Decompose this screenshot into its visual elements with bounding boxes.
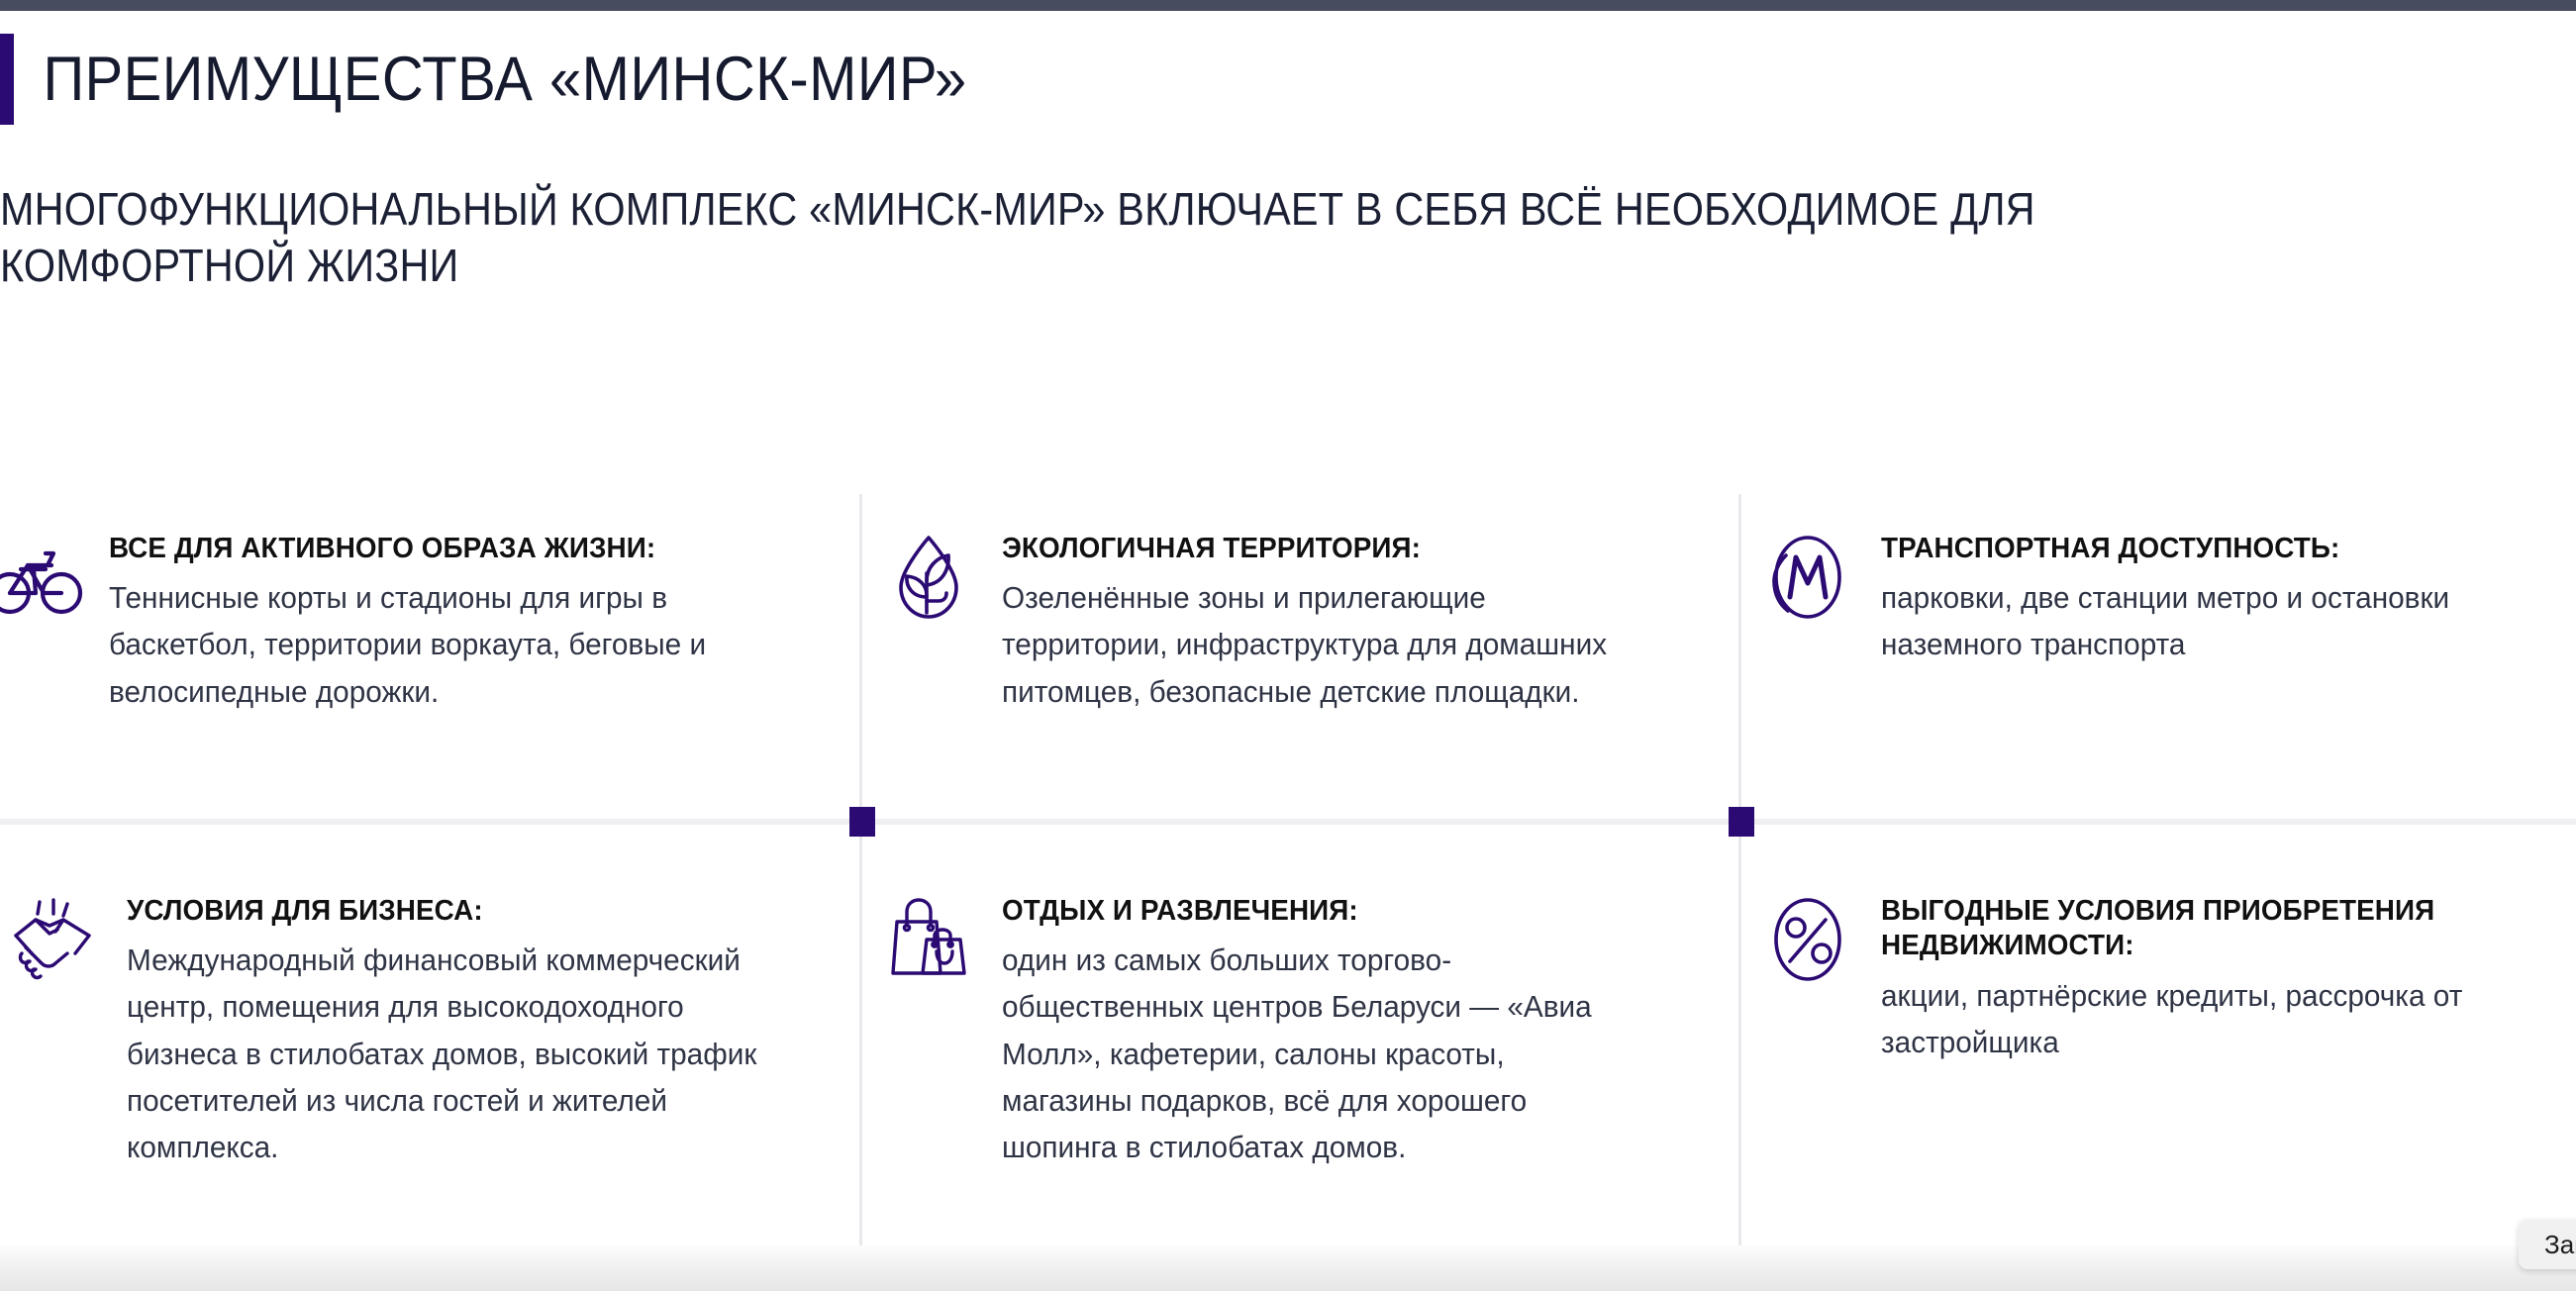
eco-leaf-drop-icon: [881, 530, 976, 625]
feature-card-title: УСЛОВИЯ ДЛЯ БИЗНЕСА:: [127, 894, 765, 929]
feature-card-text: Международный финансовый коммерческий це…: [127, 937, 765, 1170]
vertical-divider-1: [859, 494, 862, 1262]
feature-card-title: ЭКОЛОГИЧНАЯ ТЕРРИТОРИЯ:: [1002, 532, 1636, 566]
handshake-icon: [6, 892, 101, 987]
horizontal-divider: [0, 819, 2576, 825]
card-body: ВЫГОДНЫЕ УСЛОВИЯ ПРИОБРЕТЕНИЯ НЕДВИЖИМОС…: [1881, 892, 2552, 1065]
page-title: ПРЕИМУЩЕСТВА «МИНСК-МИР»: [14, 49, 967, 111]
feature-card-transport[interactable]: ТРАНСПОРТНАЯ ДОСТУПНОСТЬ: парковки, две …: [1760, 530, 2542, 668]
page-subtitle: МНОГОФУНКЦИОНАЛЬНЫЙ КОМПЛЕКС «МИНСК-МИР»…: [0, 181, 2319, 294]
feature-card-title: ВЫГОДНЫЕ УСЛОВИЯ ПРИОБРЕТЕНИЯ НЕДВИЖИМОС…: [1881, 894, 2526, 964]
card-body: ОТДЫХ И РАЗВЛЕЧЕНИЯ: один из самых больш…: [1002, 892, 1663, 1170]
feature-card-text: один из самых больших торгово-общественн…: [1002, 937, 1636, 1170]
card-body: УСЛОВИЯ ДЛЯ БИЗНЕСА: Международный финан…: [127, 892, 792, 1170]
feature-card-text: Теннисные корты и стадионы для игры в ба…: [109, 574, 764, 714]
feature-card-leisure[interactable]: ОТДЫХ И РАЗВЛЕЧЕНИЯ: один из самых больш…: [881, 892, 1663, 1170]
feature-card-text: парковки, две станции метро и остановки …: [1881, 574, 2516, 667]
feature-card-active-lifestyle[interactable]: ВСЕ ДЛЯ АКТИВНОГО ОБРАЗА ЖИЗНИ: Теннисны…: [0, 530, 792, 715]
grid-node-marker-2: [1729, 807, 1754, 837]
feature-card-title: ТРАНСПОРТНАЯ ДОСТУПНОСТЬ:: [1881, 532, 2516, 566]
card-body: ЭКОЛОГИЧНАЯ ТЕРРИТОРИЯ: Озеленённые зоны…: [1002, 530, 1663, 715]
cta-signup-button[interactable]: Записаться: [2519, 1220, 2576, 1269]
feature-card-eco-territory[interactable]: ЭКОЛОГИЧНАЯ ТЕРРИТОРИЯ: Озеленённые зоны…: [881, 530, 1663, 715]
percent-icon: [1760, 892, 1855, 987]
feature-card-text: Озеленённые зоны и прилегающие территори…: [1002, 574, 1636, 714]
page-title-row: ПРЕИМУЩЕСТВА «МИНСК-МИР»: [0, 34, 1049, 125]
feature-card-text: акции, партнёрские кредиты, рассрочка от…: [1881, 972, 2526, 1065]
feature-card-title: ОТДЫХ И РАЗВЛЕЧЕНИЯ:: [1002, 894, 1636, 929]
vertical-divider-2: [1738, 494, 1741, 1262]
features-grid: ВСЕ ДЛЯ АКТИВНОГО ОБРАЗА ЖИЗНИ: Теннисны…: [0, 484, 2576, 1266]
grid-node-marker-1: [849, 807, 875, 837]
shopping-bags-icon: [881, 892, 976, 987]
metro-m-icon: [1760, 530, 1855, 625]
browser-chrome-bar: [0, 0, 2576, 11]
card-body: ВСЕ ДЛЯ АКТИВНОГО ОБРАЗА ЖИЗНИ: Теннисны…: [109, 530, 792, 715]
feature-card-purchase-terms[interactable]: ВЫГОДНЫЕ УСЛОВИЯ ПРИОБРЕТЕНИЯ НЕДВИЖИМОС…: [1760, 892, 2552, 1065]
bicycle-icon: [0, 530, 83, 625]
bottom-gradient-band: [0, 1245, 2576, 1291]
feature-card-title: ВСЕ ДЛЯ АКТИВНОГО ОБРАЗА ЖИЗНИ:: [109, 532, 764, 566]
feature-card-business[interactable]: УСЛОВИЯ ДЛЯ БИЗНЕСА: Международный финан…: [0, 892, 792, 1170]
page-canvas: ПРЕИМУЩЕСТВА «МИНСК-МИР» МНОГОФУНКЦИОНАЛ…: [0, 11, 2576, 1291]
card-body: ТРАНСПОРТНАЯ ДОСТУПНОСТЬ: парковки, две …: [1881, 530, 2542, 668]
title-accent-bar: [0, 34, 14, 125]
